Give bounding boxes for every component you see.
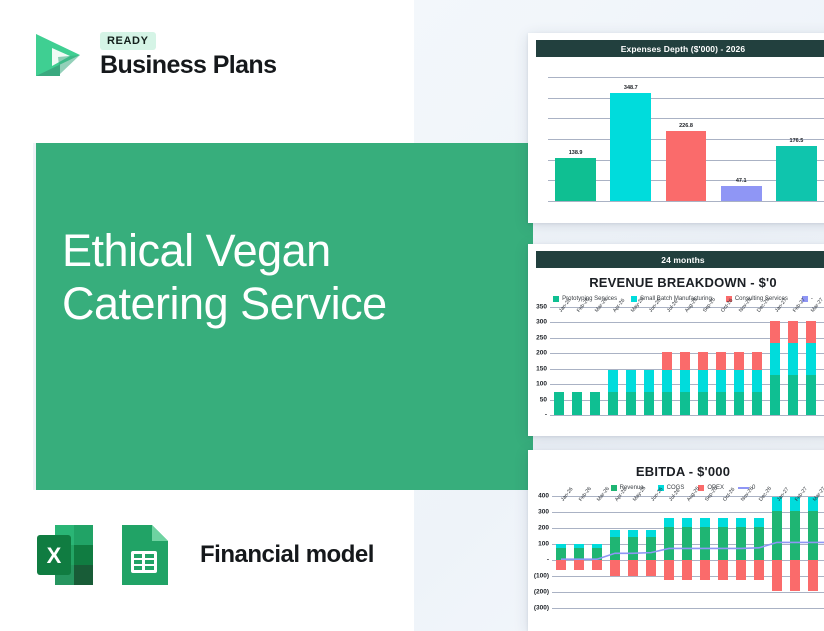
stacked-bar[interactable]	[626, 307, 635, 415]
stack-segment	[680, 352, 689, 370]
y-axis-tick: -	[547, 557, 549, 564]
stack-segment[interactable]	[592, 544, 602, 548]
stack-segment	[572, 392, 581, 415]
bar-value-label: 176.5	[790, 138, 804, 144]
stack-segment[interactable]	[646, 537, 656, 560]
stack-segment	[716, 392, 725, 415]
stack-segment	[626, 392, 635, 415]
stack-segment[interactable]	[592, 560, 602, 570]
stack-segment	[806, 343, 815, 375]
stacked-bar[interactable]	[716, 307, 725, 415]
stack-segment[interactable]	[592, 548, 602, 560]
stacked-bar[interactable]	[806, 307, 815, 415]
stack-segment	[734, 370, 743, 392]
ebitda-plot: 400300200100-(100)(200)(300)Jan-26Feb-26…	[552, 496, 824, 608]
stack-segment[interactable]	[646, 560, 656, 576]
stack-segment[interactable]	[718, 560, 728, 580]
bar-value-label: 348.7	[624, 85, 638, 91]
stack-segment[interactable]	[772, 560, 782, 591]
stack-segment	[788, 321, 797, 343]
bar-value-label: 47.1	[736, 178, 747, 184]
stacked-bar[interactable]	[698, 307, 707, 415]
brand-block: READY Business Plans	[30, 26, 276, 84]
stack-segment	[752, 352, 761, 370]
stack-segment[interactable]	[664, 560, 674, 580]
play-triangle-logo-icon	[30, 26, 86, 84]
expenses-banner-wrap: Expenses Depth ($'000) - 2026	[528, 33, 824, 57]
stack-segment[interactable]	[718, 527, 728, 560]
y-axis-tick: 300	[536, 319, 547, 326]
stack-segment[interactable]	[700, 560, 710, 580]
stack-segment[interactable]	[682, 527, 692, 560]
stack-segment[interactable]	[808, 511, 818, 560]
stack-segment[interactable]	[574, 548, 584, 560]
gridline	[552, 592, 824, 593]
stack-segment[interactable]	[772, 511, 782, 560]
stack-segment[interactable]	[700, 518, 710, 528]
y-axis-tick: 150	[536, 365, 547, 372]
y-axis-tick: 400	[538, 493, 549, 500]
stack-segment[interactable]	[682, 518, 692, 528]
legend-label: -	[811, 296, 813, 302]
chart-card-ebitda: EBITDA - $'000 RevenueCOGSOPEX0 40030020…	[528, 450, 824, 631]
bar[interactable]	[555, 158, 596, 201]
bar-value-label: 138.9	[569, 150, 583, 156]
ready-badge: READY	[100, 32, 156, 50]
y-axis-tick: 200	[538, 525, 549, 532]
stack-segment	[734, 352, 743, 370]
stack-segment	[806, 321, 815, 343]
stack-segment	[806, 375, 815, 415]
stack-segment	[644, 370, 653, 392]
stack-segment[interactable]	[808, 560, 818, 591]
stack-segment	[752, 392, 761, 415]
y-axis-tick: 250	[536, 334, 547, 341]
stack-segment	[770, 321, 779, 343]
y-axis-tick: -	[545, 412, 547, 419]
bar-value-label: 226.8	[679, 123, 693, 129]
stack-segment	[716, 370, 725, 392]
brand-name: Business Plans	[100, 53, 276, 78]
google-sheets-icon	[112, 521, 176, 589]
stack-segment	[698, 352, 707, 370]
stack-segment[interactable]	[736, 518, 746, 528]
stack-segment	[608, 370, 617, 392]
y-axis-tick: 50	[540, 396, 547, 403]
stacked-bar[interactable]	[680, 307, 689, 415]
stacked-bar[interactable]	[590, 307, 599, 415]
legend-item[interactable]: Consulting Services	[726, 296, 788, 302]
ebitda-chart-title: EBITDA - $'000	[528, 464, 824, 479]
footer-label: Financial model	[200, 541, 374, 569]
svg-text:X: X	[47, 543, 62, 568]
gridline	[548, 98, 824, 99]
stack-segment[interactable]	[736, 527, 746, 560]
chart-card-expenses: Expenses Depth ($'000) - 2026 138.9348.7…	[528, 33, 824, 223]
stack-segment[interactable]	[718, 518, 728, 528]
stacked-bar[interactable]	[554, 307, 563, 415]
stack-segment	[752, 370, 761, 392]
stacked-bar[interactable]	[788, 307, 797, 415]
y-axis-tick: 300	[538, 509, 549, 516]
stack-segment	[770, 375, 779, 415]
revenue-banner-wrap: 24 months	[528, 244, 824, 268]
stack-segment	[662, 392, 671, 415]
stack-segment[interactable]	[628, 537, 638, 560]
stack-segment[interactable]	[754, 527, 764, 560]
stack-segment[interactable]	[736, 560, 746, 580]
chart-card-revenue: 24 months REVENUE BREAKDOWN - $'0 Protot…	[528, 244, 824, 436]
stack-segment[interactable]	[682, 560, 692, 580]
stack-segment[interactable]	[700, 527, 710, 560]
bar[interactable]	[721, 186, 762, 201]
y-axis-tick: 100	[538, 541, 549, 548]
y-axis-tick: 200	[536, 350, 547, 357]
stack-segment[interactable]	[556, 548, 566, 560]
stack-segment	[788, 375, 797, 415]
y-axis-tick: (100)	[534, 573, 549, 580]
stack-segment	[716, 352, 725, 370]
stack-segment	[590, 392, 599, 415]
stack-segment	[680, 392, 689, 415]
gridline	[548, 77, 824, 78]
revenue-chart-title: REVENUE BREAKDOWN - $'0	[528, 275, 824, 290]
y-axis-tick: (300)	[534, 605, 549, 612]
bar[interactable]	[666, 131, 707, 201]
legend-color-swatch	[611, 485, 617, 491]
stack-segment[interactable]	[610, 530, 620, 537]
stack-segment	[626, 370, 635, 392]
axis-baseline	[548, 201, 824, 202]
stack-segment	[554, 392, 563, 415]
y-axis-tick: 100	[536, 381, 547, 388]
revenue-plot: 35030025020015010050-Jan-26Feb-26Mar-26A…	[550, 307, 824, 415]
stack-segment[interactable]	[556, 560, 566, 570]
stacked-bar[interactable]	[608, 307, 617, 415]
y-axis-tick: 350	[536, 304, 547, 311]
stack-segment[interactable]	[610, 560, 620, 576]
stack-segment	[734, 392, 743, 415]
stack-segment	[644, 392, 653, 415]
gridline	[548, 118, 824, 119]
stack-segment	[662, 352, 671, 370]
stack-segment[interactable]	[628, 530, 638, 537]
stack-segment	[770, 343, 779, 375]
legend-color-swatch	[553, 296, 559, 302]
revenue-banner: 24 months	[536, 251, 824, 268]
stack-segment[interactable]	[556, 544, 566, 548]
microsoft-excel-icon: X	[33, 521, 97, 589]
stack-segment[interactable]	[664, 518, 674, 528]
stack-segment[interactable]	[574, 544, 584, 548]
stack-segment[interactable]	[574, 560, 584, 570]
expenses-plot: 138.9348.7226.847.1176.5	[548, 61, 824, 201]
gridline	[552, 608, 824, 609]
stack-segment[interactable]	[754, 560, 764, 580]
stacked-bar[interactable]	[662, 307, 671, 415]
bar[interactable]	[776, 146, 817, 201]
stack-segment	[788, 343, 797, 375]
bar[interactable]	[610, 93, 651, 201]
stacked-bar[interactable]	[734, 307, 743, 415]
expenses-banner: Expenses Depth ($'000) - 2026	[536, 40, 824, 57]
gridline	[550, 415, 824, 416]
stack-segment[interactable]	[646, 530, 656, 537]
gridline	[552, 512, 824, 513]
stack-segment	[662, 370, 671, 392]
stacked-bar[interactable]	[572, 307, 581, 415]
stack-segment	[680, 370, 689, 392]
stack-segment	[698, 370, 707, 392]
y-axis-tick: (200)	[534, 589, 549, 596]
stack-segment[interactable]	[610, 537, 620, 560]
page-title: Ethical Vegan Catering Service	[62, 225, 482, 330]
stack-segment[interactable]	[790, 560, 800, 591]
stacked-bar[interactable]	[752, 307, 761, 415]
stacked-bar[interactable]	[644, 307, 653, 415]
stacked-bar[interactable]	[770, 307, 779, 415]
stack-segment	[608, 392, 617, 415]
stack-segment[interactable]	[628, 560, 638, 576]
stack-segment[interactable]	[664, 527, 674, 560]
stack-segment[interactable]	[754, 518, 764, 528]
footer-row: X Financial model	[33, 521, 374, 589]
stack-segment	[698, 392, 707, 415]
stack-segment[interactable]	[790, 511, 800, 560]
